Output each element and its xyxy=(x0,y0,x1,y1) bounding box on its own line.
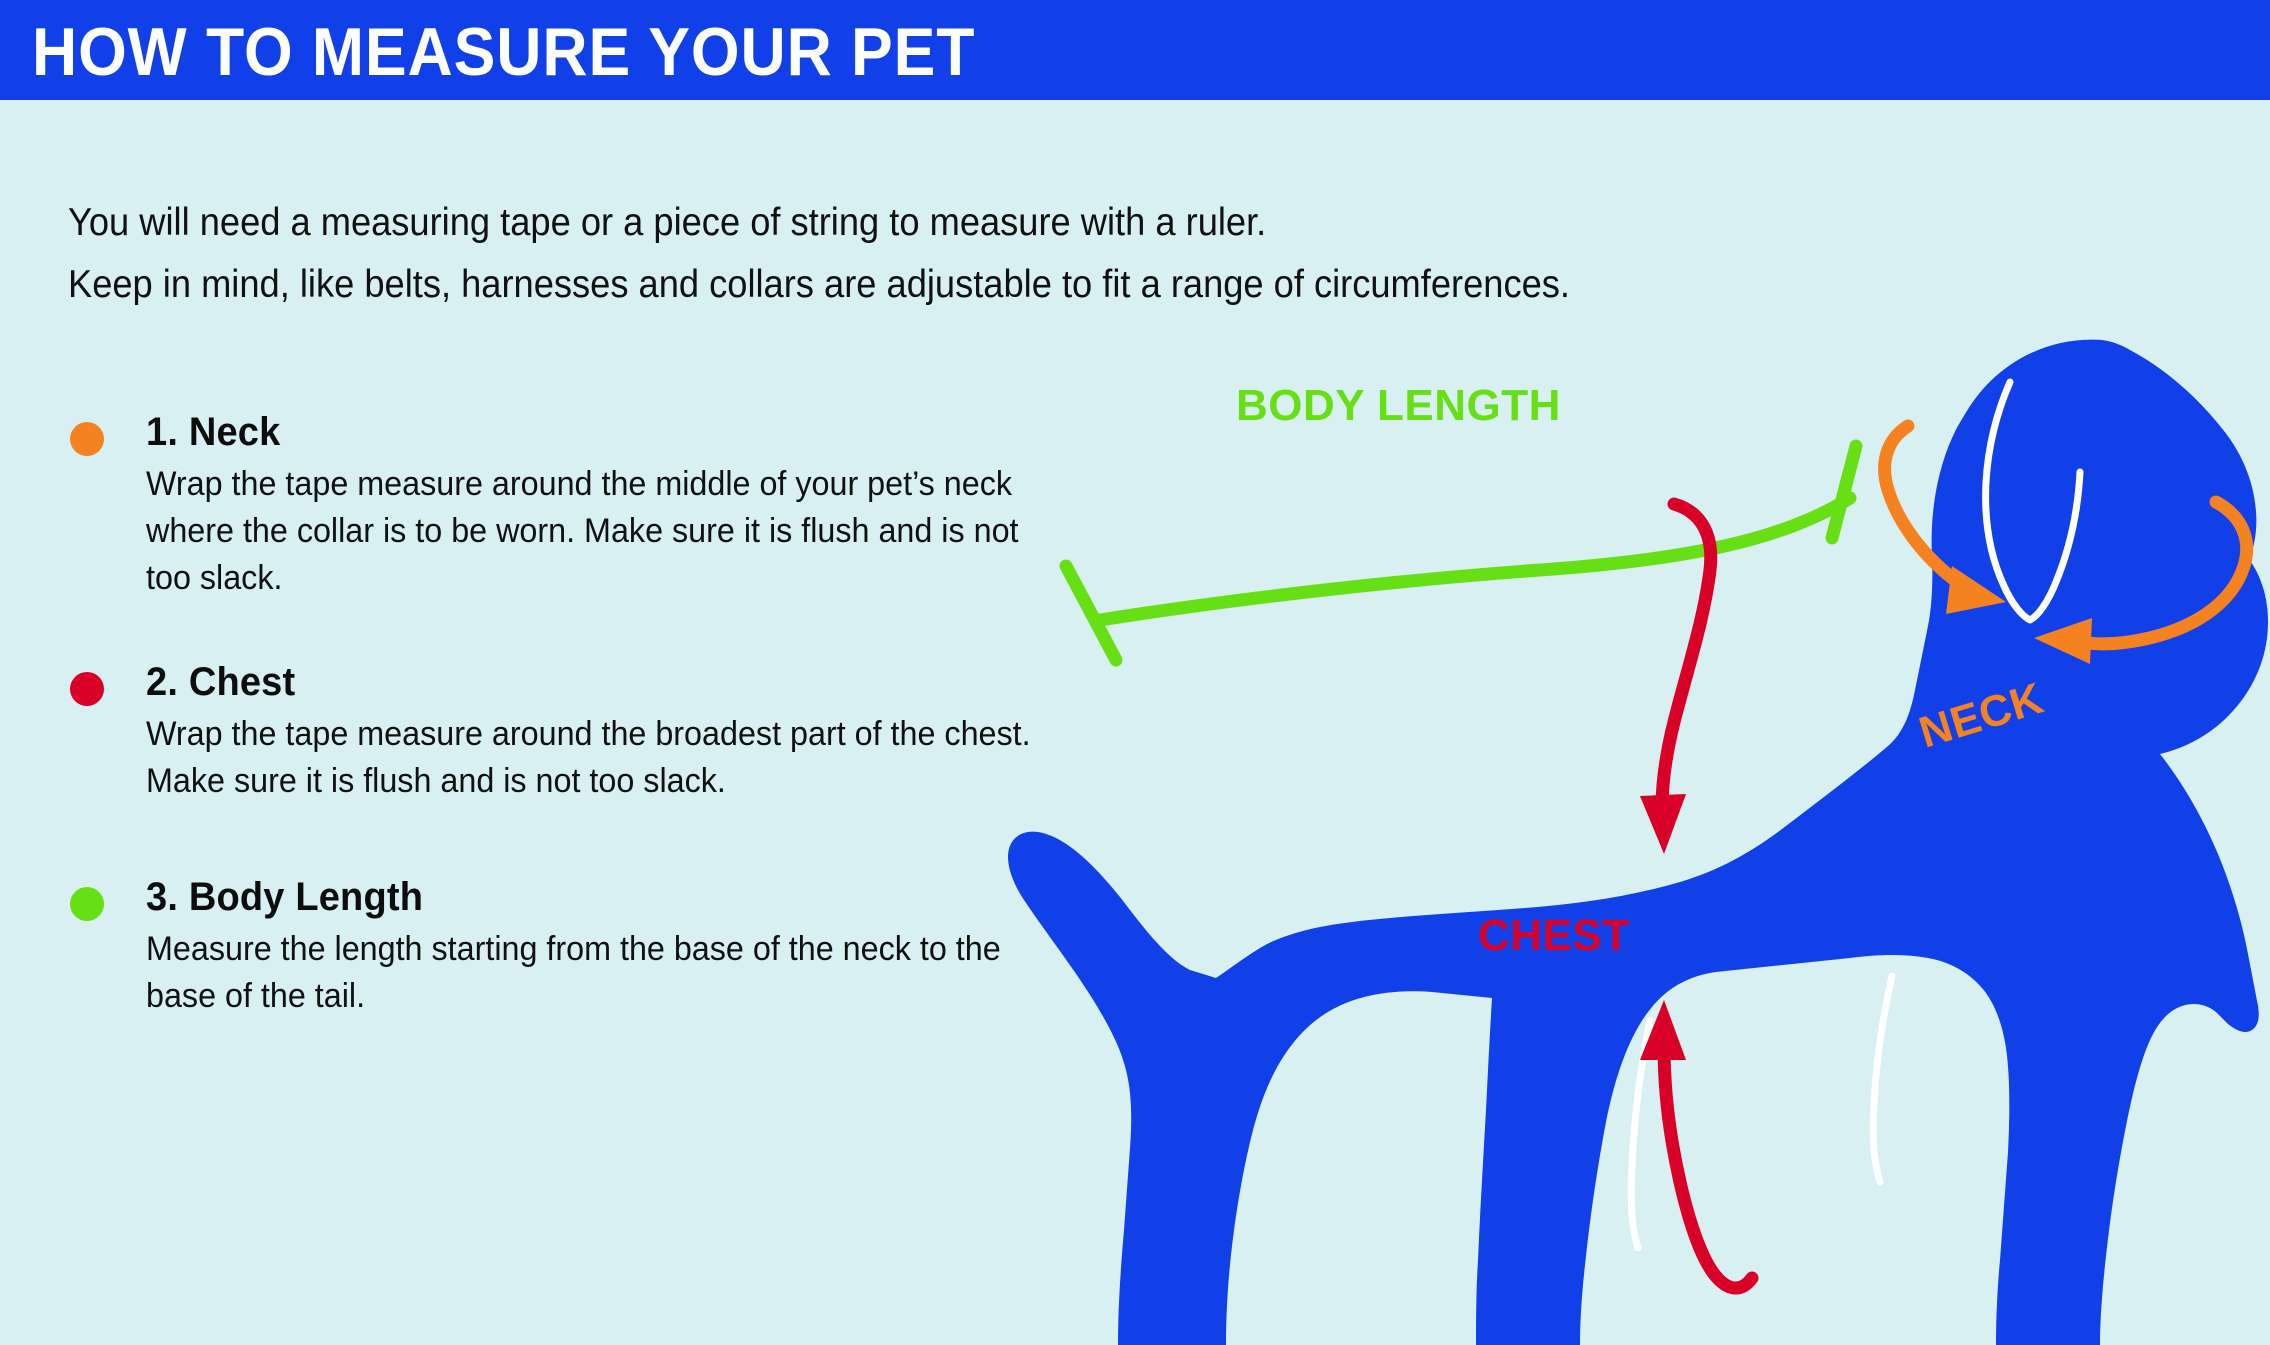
list-item-chest: 2. Chest Wrap the tape measure around th… xyxy=(62,660,1082,805)
bullet-body-length-icon xyxy=(70,887,104,921)
intro-paragraph: You will need a measuring tape or a piec… xyxy=(68,192,1705,316)
step-body-chest: Wrap the tape measure around the broades… xyxy=(146,711,1035,805)
page-title: HOW TO MEASURE YOUR PET xyxy=(32,14,975,90)
label-chest: CHEST xyxy=(1478,911,1630,960)
step-body-body-length: Measure the length starting from the bas… xyxy=(146,926,1035,1020)
list-item-neck: 1. Neck Wrap the tape measure around the… xyxy=(62,410,1082,602)
label-body-length: BODY LENGTH xyxy=(1236,381,1561,430)
bullet-neck-icon xyxy=(70,422,104,456)
list-item-body-length: 3. Body Length Measure the length starti… xyxy=(62,875,1082,1020)
infographic-page: HOW TO MEASURE YOUR PET You will need a … xyxy=(0,0,2270,1345)
step-title-chest: 2. Chest xyxy=(146,660,1035,705)
step-title-body-length: 3. Body Length xyxy=(146,875,1035,920)
intro-line-1: You will need a measuring tape or a piec… xyxy=(68,192,1705,254)
step-title-neck: 1. Neck xyxy=(146,410,1035,455)
body-length-measure-line xyxy=(1066,446,1856,660)
measurement-steps-list: 1. Neck Wrap the tape measure around the… xyxy=(62,410,1082,1078)
bullet-chest-icon xyxy=(70,672,104,706)
step-body-neck: Wrap the tape measure around the middle … xyxy=(146,461,1035,602)
dog-measurement-diagram: BODY LENGTH NECK CHEST xyxy=(980,330,2270,1345)
intro-line-2: Keep in mind, like belts, harnesses and … xyxy=(68,254,1705,316)
dog-silhouette-icon xyxy=(1008,340,2268,1345)
